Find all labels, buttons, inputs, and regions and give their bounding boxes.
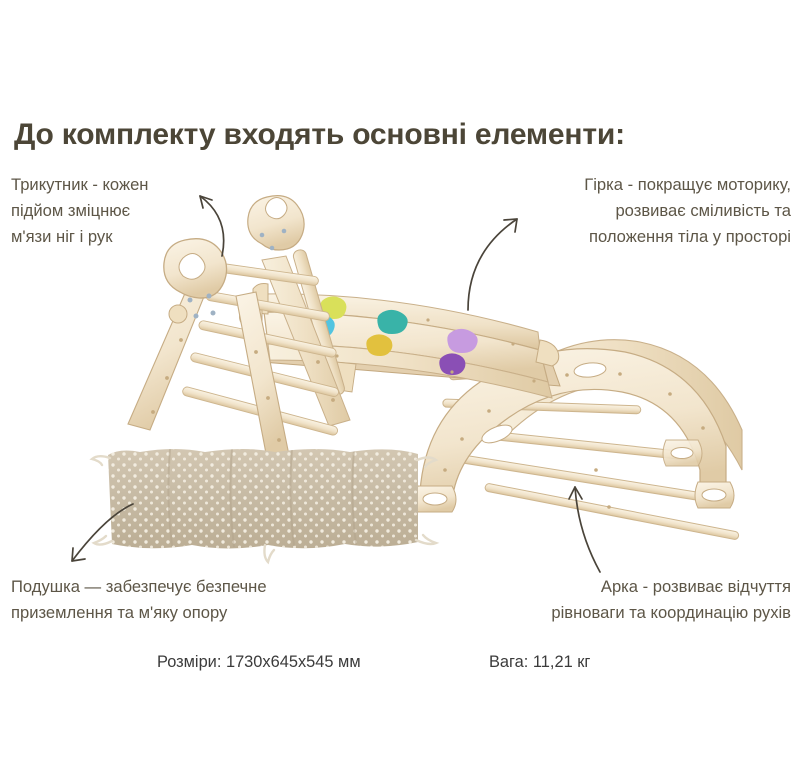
spec-dimensions: Розміри: 1730x645x545 мм xyxy=(157,653,361,672)
arrow-to-arch xyxy=(569,487,600,572)
callout-arrows xyxy=(72,196,600,572)
callout-triangle-label: Трикутник - кожен підйом зміцнює м'язи н… xyxy=(11,172,241,250)
arch-rocker-part xyxy=(415,340,742,540)
floor-cushion-part xyxy=(92,440,436,562)
slide-ramp-part xyxy=(240,284,561,398)
spec-weight: Вага: 11,21 кг xyxy=(489,653,590,672)
triangle-top-disc-back xyxy=(248,196,304,251)
product-infographic-page: До комплекту входять основні елементи: xyxy=(0,0,799,775)
climbing-holds-group xyxy=(305,296,477,375)
page-title: До комплекту входять основні елементи: xyxy=(14,118,625,152)
product-illustration xyxy=(0,0,799,775)
callout-slide-label: Гірка - покращує моторику, розвиває сміл… xyxy=(461,172,791,250)
callout-arch-label: Арка - розвиває відчуття рівноваги та ко… xyxy=(431,574,791,626)
arrow-to-cushion xyxy=(72,504,133,561)
callout-cushion-label: Подушка — забезпечує безпечне приземленн… xyxy=(11,574,411,626)
triangle-top-disc-front xyxy=(164,239,227,323)
